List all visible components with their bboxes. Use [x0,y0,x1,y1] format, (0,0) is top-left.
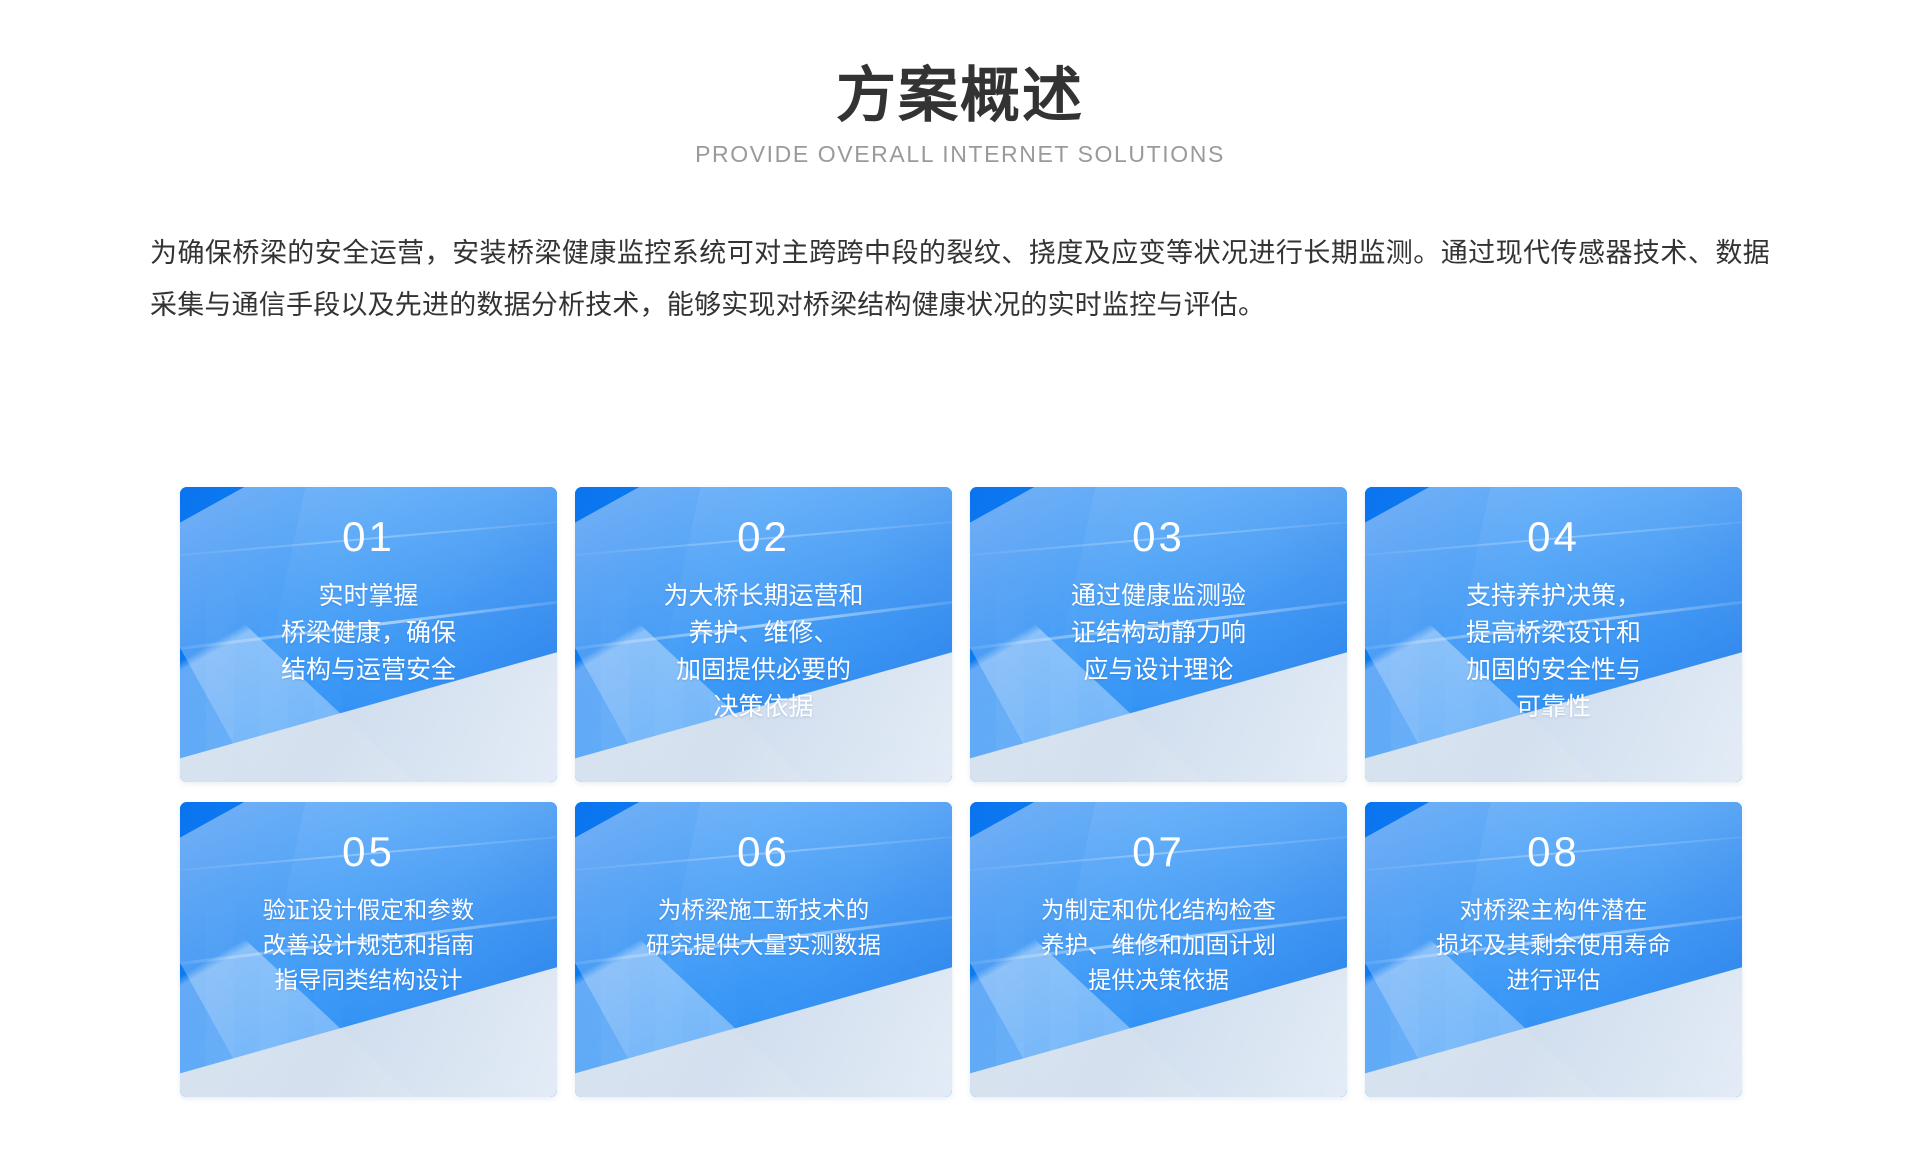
card-content: 08 对桥梁主构件潜在 损坏及其剩余使用寿命 进行评估 [1365,802,1742,1097]
card-text: 为制定和优化结构检查 养护、维修和加固计划 提供决策依据 [1033,893,1284,997]
card-content: 07 为制定和优化结构检查 养护、维修和加固计划 提供决策依据 [970,802,1347,1097]
card-number: 08 [1527,826,1580,877]
card-number: 03 [1132,511,1185,562]
card-text: 支持养护决策， 提高桥梁设计和 加固的安全性与 可靠性 [1458,578,1649,726]
card-number: 02 [737,511,790,562]
feature-card-grid: 01 实时掌握 桥梁健康，确保 结构与运营安全 02 为大桥长期运营和 养护、维… [180,487,1742,1097]
card-text: 实时掌握 桥梁健康，确保 结构与运营安全 [273,578,464,689]
feature-card[interactable]: 05 验证设计假定和参数 改善设计规范和指南 指导同类结构设计 [180,802,557,1097]
intro-paragraph: 为确保桥梁的安全运营，安装桥梁健康监控系统可对主跨跨中段的裂纹、挠度及应变等状况… [150,227,1770,332]
card-text: 通过健康监测验 证结构动静力响 应与设计理论 [1063,578,1254,689]
card-number: 06 [737,826,790,877]
card-content: 01 实时掌握 桥梁健康，确保 结构与运营安全 [180,487,557,782]
feature-card[interactable]: 08 对桥梁主构件潜在 损坏及其剩余使用寿命 进行评估 [1365,802,1742,1097]
page-header: 方案概述 PROVIDE OVERALL INTERNET SOLUTIONS [0,0,1920,169]
card-content: 02 为大桥长期运营和 养护、维修、 加固提供必要的 决策依据 [575,487,952,782]
card-number: 05 [342,826,395,877]
solution-overview-page: 方案概述 PROVIDE OVERALL INTERNET SOLUTIONS … [0,0,1920,1152]
page-subtitle: PROVIDE OVERALL INTERNET SOLUTIONS [0,141,1920,169]
feature-card[interactable]: 01 实时掌握 桥梁健康，确保 结构与运营安全 [180,487,557,782]
feature-card[interactable]: 03 通过健康监测验 证结构动静力响 应与设计理论 [970,487,1347,782]
card-content: 04 支持养护决策， 提高桥梁设计和 加固的安全性与 可靠性 [1365,487,1742,782]
feature-card[interactable]: 02 为大桥长期运营和 养护、维修、 加固提供必要的 决策依据 [575,487,952,782]
card-content: 03 通过健康监测验 证结构动静力响 应与设计理论 [970,487,1347,782]
card-number: 07 [1132,826,1185,877]
card-text: 为大桥长期运营和 养护、维修、 加固提供必要的 决策依据 [655,578,871,726]
feature-card[interactable]: 06 为桥梁施工新技术的 研究提供大量实测数据 [575,802,952,1097]
page-title: 方案概述 [0,62,1920,129]
card-text: 为桥梁施工新技术的 研究提供大量实测数据 [638,893,889,963]
card-content: 06 为桥梁施工新技术的 研究提供大量实测数据 [575,802,952,1097]
feature-card[interactable]: 07 为制定和优化结构检查 养护、维修和加固计划 提供决策依据 [970,802,1347,1097]
card-text: 验证设计假定和参数 改善设计规范和指南 指导同类结构设计 [255,893,483,997]
card-text: 对桥梁主构件潜在 损坏及其剩余使用寿命 进行评估 [1428,893,1679,997]
card-number: 01 [342,511,395,562]
card-number: 04 [1527,511,1580,562]
feature-card[interactable]: 04 支持养护决策， 提高桥梁设计和 加固的安全性与 可靠性 [1365,487,1742,782]
card-content: 05 验证设计假定和参数 改善设计规范和指南 指导同类结构设计 [180,802,557,1097]
